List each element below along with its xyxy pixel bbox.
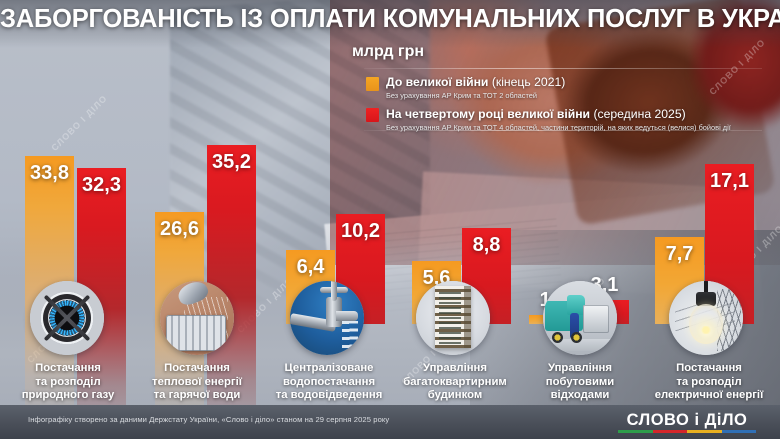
- category-label-gas: Постачання та розподіл природного газу: [6, 362, 130, 403]
- category-label-electricity: Постачання та розподіл електричної енерг…: [640, 362, 778, 403]
- garbage-truck-icon: [543, 281, 617, 355]
- bar-value-electricity-now: 17,1: [710, 170, 749, 193]
- garbage-truck-art: [543, 281, 617, 355]
- bar-value-electricity-prewar: 7,7: [666, 243, 694, 266]
- light-bulb-icon: [669, 281, 743, 355]
- apartment-building-icon: [416, 281, 490, 355]
- source-note: Інфографіку створено за даними Держстату…: [28, 415, 389, 424]
- tap-spout: [336, 311, 358, 321]
- category-label-heat: Постачання теплової енергії та гарячої в…: [134, 362, 260, 403]
- building-tower: [435, 286, 471, 348]
- water-drops: [342, 321, 358, 351]
- burner-grate: [30, 281, 104, 355]
- water-tap-art: [290, 281, 364, 355]
- bulb-glass: [689, 304, 723, 344]
- bar-value-gas-now: 32,3: [82, 174, 121, 197]
- brand-logo-underline: [618, 430, 756, 433]
- bar-value-gas-prewar: 33,8: [30, 162, 69, 185]
- truck-wheel: [552, 332, 563, 343]
- gas-burner-icon: [30, 281, 104, 355]
- bar-value-heat-prewar: 26,6: [160, 218, 199, 241]
- category-label-building: Управління багатоквартирним будинком: [392, 362, 518, 403]
- category-label-waste: Управління побутовими відходами: [518, 362, 642, 403]
- waste-bin: [583, 305, 609, 333]
- bar-value-water-now: 10,2: [341, 220, 380, 243]
- radiator-shower-icon: [160, 281, 234, 355]
- infographic-root: СЛОВО І ДІЛО СЛОВО І ДІЛО СЛОВО І ДІЛО С…: [0, 0, 780, 439]
- bar-value-heat-now: 35,2: [212, 151, 251, 174]
- apartment-building-art: [416, 281, 490, 355]
- bar-value-water-prewar: 6,4: [297, 256, 325, 279]
- radiator-shower-art: [160, 281, 234, 355]
- footer-bar: Інфографіку створено за даними Держстату…: [0, 405, 780, 439]
- light-bulb-art: [669, 281, 743, 355]
- truck-wheel: [571, 332, 582, 343]
- brand-logo[interactable]: СЛОВО і ДіЛО: [618, 411, 756, 433]
- gas-burner-art: [30, 281, 104, 355]
- bar-value-building-now: 8,8: [473, 234, 501, 257]
- brand-logo-text: СЛОВО і ДіЛО: [618, 411, 756, 429]
- bulb-filament: [700, 326, 712, 334]
- water-tap-icon: [290, 281, 364, 355]
- tap-handle-vertical: [331, 281, 337, 301]
- category-label-water: Централізоване водопостачання та водовід…: [262, 362, 396, 403]
- radiator-body: [166, 315, 226, 351]
